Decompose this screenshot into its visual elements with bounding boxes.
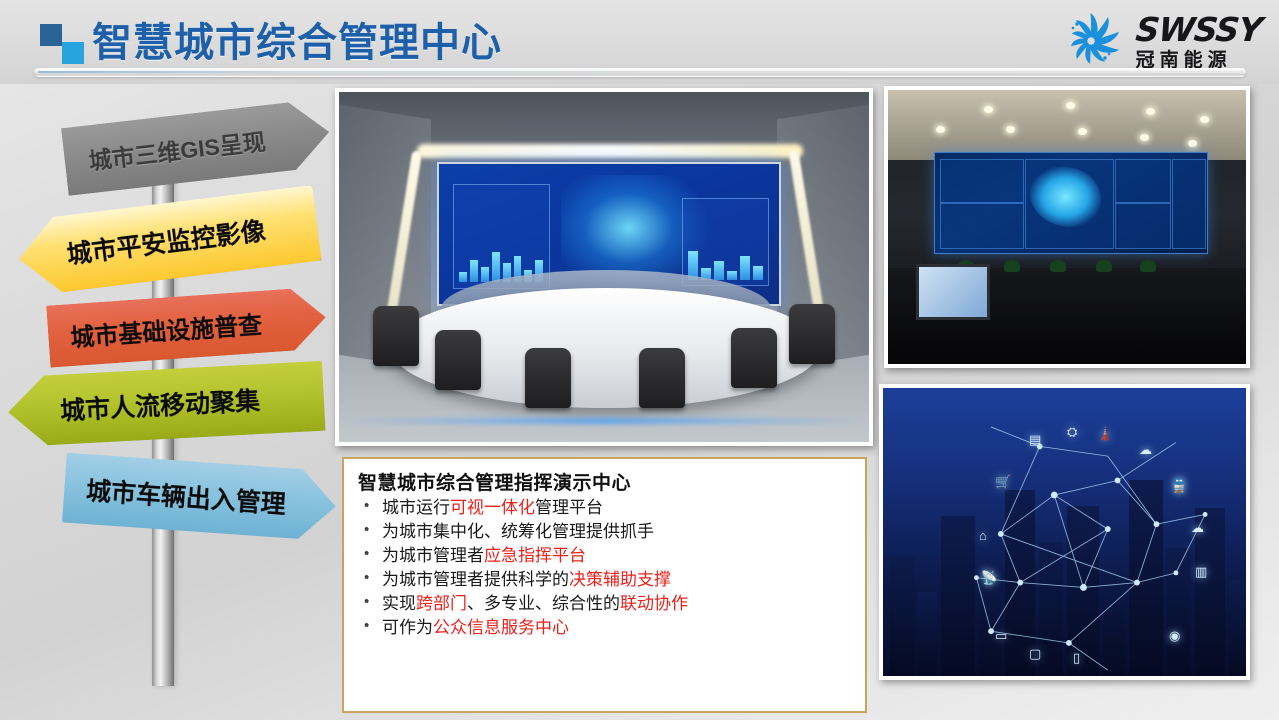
operator-monitor — [916, 264, 990, 320]
card-bullet-item: 城市运行可视一体化管理平台 — [358, 499, 849, 516]
card-bullet-list: 城市运行可视一体化管理平台为城市集中化、统筹化管理提供抓手为城市管理者应急指挥平… — [358, 499, 849, 636]
signpost-arrow-gis[interactable]: 城市三维GIS呈现 — [61, 98, 333, 196]
tower-icon: 🗼 — [1097, 426, 1113, 442]
signpost-label-infrastructure: 城市基础设施普查 — [69, 302, 293, 352]
signpost-label-surveillance: 城市平安监控影像 — [65, 207, 300, 271]
decorative-square-dark — [40, 24, 62, 46]
logo-text-block: SWSSY 冠南能源 — [1136, 13, 1261, 70]
factory-icon: ⛭ — [1067, 424, 1077, 440]
logo-chinese-name: 冠南能源 — [1136, 51, 1232, 70]
bullet-highlight-text: 决策辅助支撑 — [569, 570, 671, 589]
header-divider — [34, 68, 1246, 77]
monitoring-room-video-wall-photo — [884, 86, 1250, 368]
page-title: 智慧城市综合管理中心 — [92, 10, 502, 68]
bullet-text: 为城市集中化、统筹化管理提供抓手 — [382, 522, 654, 541]
card-bullet-item: 为城市集中化、统筹化管理提供抓手 — [358, 523, 849, 540]
bullet-text: 管理平台 — [535, 498, 603, 517]
signpost-arrow-crowd-flow[interactable]: 城市人流移动聚集 — [6, 361, 325, 447]
description-card: 智慧城市综合管理指挥演示中心 城市运行可视一体化管理平台为城市集中化、统筹化管理… — [342, 457, 867, 713]
water-droplet-flower-icon — [1060, 10, 1122, 72]
signpost-arrow-vehicle-access[interactable]: 城市车辆出入管理 — [62, 453, 338, 542]
card-bullet-item: 为城市管理者应急指挥平台 — [358, 547, 849, 564]
cart-icon: 🛒 — [995, 474, 1011, 490]
building-icon: ▤ — [1029, 432, 1041, 448]
card-bullet-item: 实现跨部门、多专业、综合性的联动协作 — [358, 595, 849, 612]
signpost-label-vehicle-access: 城市车辆出入管理 — [85, 471, 303, 522]
smart-city-iot-network-photo: ▤ ⛭ 🗼 ☁ 🚆 🛒 ⌂ 📡 ☁ ▥ ▭ ▢ ▯ ◉ — [879, 384, 1250, 680]
bullet-highlight-text: 应急指挥平台 — [484, 546, 586, 565]
decorative-square-light — [62, 42, 84, 64]
card-bullet-item: 为城市管理者提供科学的决策辅助支撑 — [358, 571, 849, 588]
signpost-arrow-infrastructure[interactable]: 城市基础设施普查 — [46, 286, 328, 367]
bullet-text: 实现 — [382, 594, 416, 613]
signpost-label-gis: 城市三维GIS呈现 — [87, 118, 305, 176]
laptop-icon: ▢ — [1029, 646, 1041, 662]
logo-english-name: SWSSY — [1134, 13, 1263, 46]
bullet-highlight-text: 联动协作 — [620, 594, 688, 613]
server-icon: ▥ — [1195, 564, 1207, 580]
page-header: 智慧城市综合管理中心 — [0, 0, 1279, 84]
bullet-highlight-text: 跨部门 — [416, 594, 467, 613]
dashboard-video-wall — [934, 152, 1208, 254]
bullet-text: 城市运行 — [382, 498, 450, 517]
command-center-round-table-photo — [335, 88, 873, 446]
signpost-label-crowd-flow: 城市人流移动聚集 — [59, 379, 307, 428]
bullet-text: 为城市管理者 — [382, 546, 484, 565]
card-heading: 智慧城市综合管理指挥演示中心 — [358, 468, 849, 495]
antenna-icon: 📡 — [981, 570, 997, 586]
car-cloud-icon: ☁ — [1139, 442, 1152, 458]
company-logo: SWSSY 冠南能源 — [1060, 6, 1261, 76]
bullet-text: 可作为 — [382, 618, 433, 637]
card-bullet-item: 可作为公众信息服务中心 — [358, 619, 849, 636]
pin-icon: ◉ — [1169, 628, 1180, 644]
train-icon: 🚆 — [1171, 478, 1187, 494]
device-icon: ▭ — [995, 628, 1007, 644]
cloud-icon: ☁ — [1191, 520, 1204, 536]
bullet-text: 、多专业、综合性的 — [467, 594, 620, 613]
bullet-highlight-text: 公众信息服务中心 — [433, 618, 569, 637]
bullet-highlight-text: 可视一体化 — [450, 498, 535, 517]
bullet-text: 为城市管理者提供科学的 — [382, 570, 569, 589]
home-icon: ⌂ — [979, 528, 987, 543]
phone-icon: ▯ — [1073, 650, 1080, 666]
